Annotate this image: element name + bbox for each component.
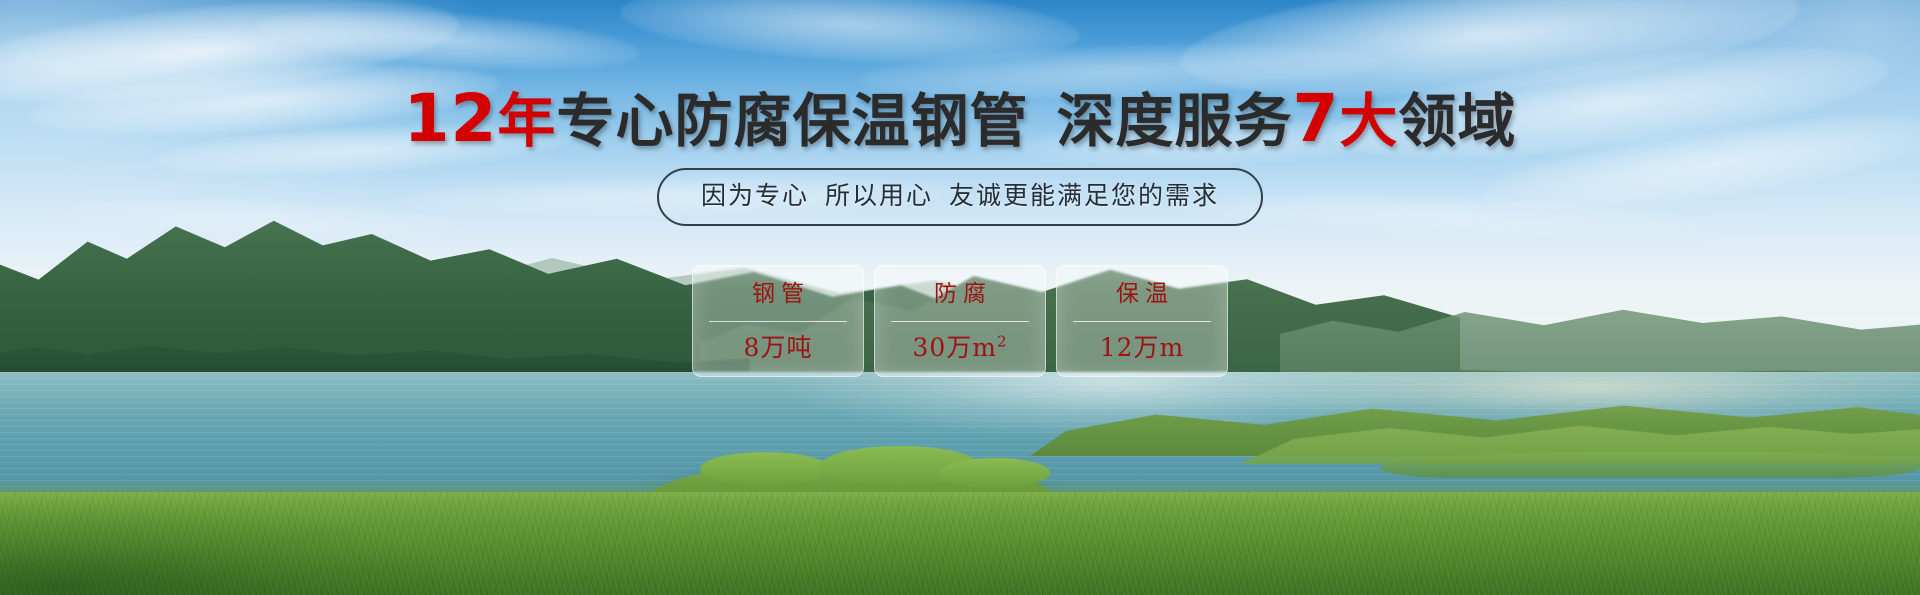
stat-cards: 钢管 8万吨 防腐 30万m2 保温 12万m [0, 265, 1920, 377]
stat-card-steel-pipe[interactable]: 钢管 8万吨 [692, 265, 864, 377]
banner-headline: 12年专心防腐保温钢管深度服务7大领域 [0, 86, 1920, 152]
stat-card-value-text: 8万吨 [744, 333, 813, 362]
headline-fields-number: 7 [1292, 80, 1339, 157]
headline-fields-unit: 大 [1339, 87, 1398, 155]
stat-card-value-text: 30万m [912, 333, 997, 362]
stat-card-title: 钢管 [746, 283, 810, 306]
headline-fields-tail: 领域 [1398, 87, 1516, 155]
stat-card-insulation[interactable]: 保温 12万m [1056, 265, 1228, 377]
subtitle-part-3: 友诚更能满足您的需求 [949, 181, 1219, 210]
headline-years-unit: 年 [497, 87, 556, 155]
headline-main-text: 专心防腐保温钢管 [556, 87, 1028, 155]
headline-years-number: 12 [404, 80, 498, 157]
stat-card-value: 12万m [1100, 335, 1185, 360]
stat-card-divider [1073, 321, 1211, 322]
stat-card-value-text: 12万m [1100, 333, 1185, 362]
stat-card-anticorrosion[interactable]: 防腐 30万m2 [874, 265, 1046, 377]
banner-subtitle-wrap: 因为专心所以用心友诚更能满足您的需求 [0, 168, 1920, 226]
stat-card-title: 防腐 [928, 283, 992, 306]
stat-card-value: 8万吨 [744, 335, 813, 360]
stat-card-title: 保温 [1110, 283, 1174, 306]
stat-card-divider [709, 321, 847, 322]
hero-banner: 12年专心防腐保温钢管深度服务7大领域 因为专心所以用心友诚更能满足您的需求 钢… [0, 0, 1920, 595]
stat-card-value-superscript: 2 [997, 333, 1008, 351]
banner-subtitle-pill: 因为专心所以用心友诚更能满足您的需求 [657, 168, 1263, 226]
banner-content: 12年专心防腐保温钢管深度服务7大领域 因为专心所以用心友诚更能满足您的需求 钢… [0, 0, 1920, 595]
subtitle-part-2: 所以用心 [825, 181, 933, 210]
stat-card-value: 30万m2 [912, 335, 1007, 360]
stat-card-divider [891, 321, 1029, 322]
headline-service-text: 深度服务 [1056, 87, 1292, 155]
subtitle-part-1: 因为专心 [701, 181, 809, 210]
